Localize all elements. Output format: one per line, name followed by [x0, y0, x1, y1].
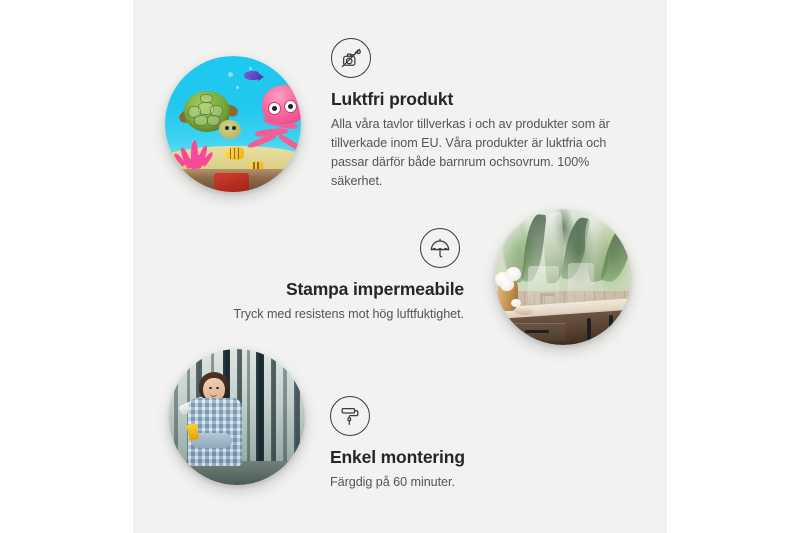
feature-title: Luktfri produkt — [331, 89, 631, 111]
feature-description: Alla våra tavlor tillverkas i och av pro… — [331, 115, 631, 192]
product-image-bathroom — [495, 209, 631, 345]
no-odour-perfume-icon — [331, 38, 371, 78]
feature-waterproof: Stampa impermeabile Tryck med resistens … — [196, 228, 464, 324]
feature-description: Tryck med resistens mot hög luftfuktighe… — [196, 305, 464, 324]
umbrella-icon — [420, 228, 460, 268]
feature-assembly: Enkel montering Färgdig på 60 minuter. — [330, 396, 600, 492]
feature-description: Färgdig på 60 minuter. — [330, 473, 600, 492]
feature-title: Stampa impermeabile — [196, 279, 464, 301]
underwater-scene — [165, 56, 301, 192]
feature-title: Enkel montering — [330, 447, 600, 469]
bathroom-scene — [495, 209, 631, 345]
infographic-page: Luktfri produkt Alla våra tavlor tillver… — [0, 0, 800, 533]
product-image-underwater — [165, 56, 301, 192]
feature-odourless: Luktfri produkt Alla våra tavlor tillver… — [331, 38, 631, 191]
forest-scene — [169, 349, 305, 485]
paint-roller-icon — [330, 396, 370, 436]
product-image-forest — [169, 349, 305, 485]
